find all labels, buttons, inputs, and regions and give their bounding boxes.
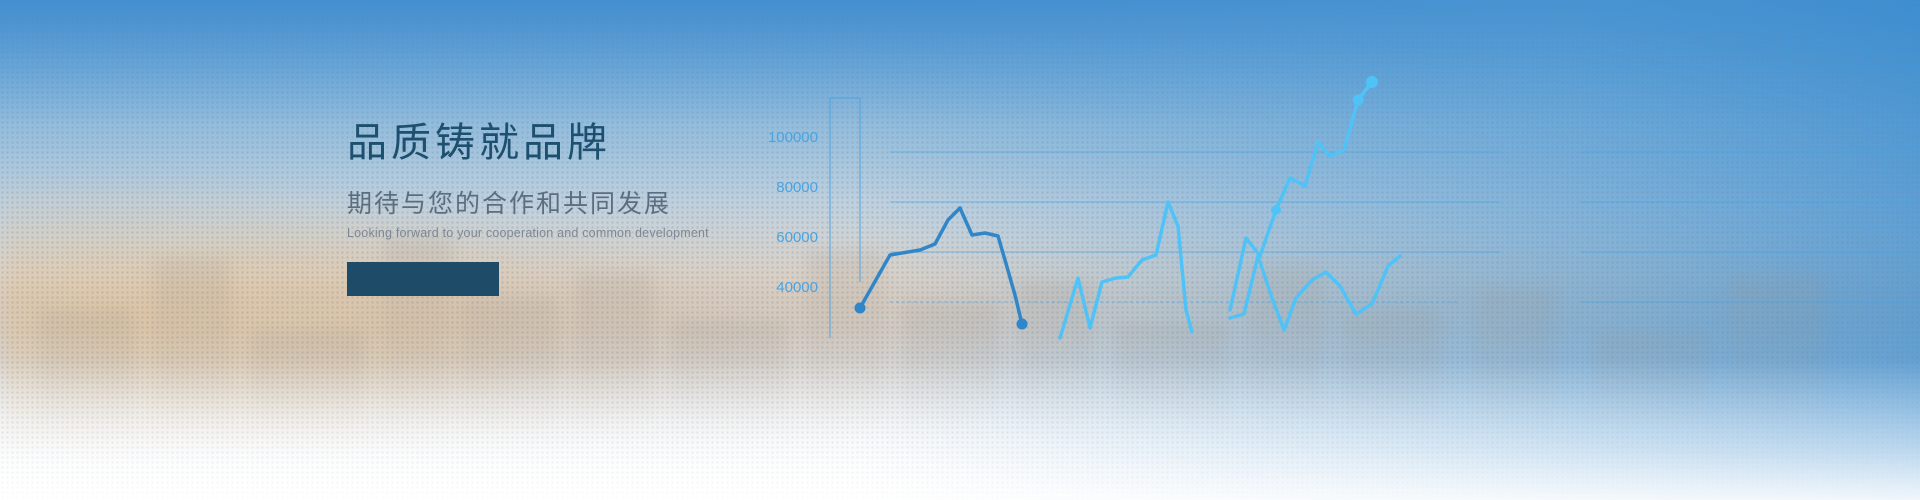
chart-axis-frame — [830, 98, 860, 338]
banner-text-block: 品质铸就品牌 期待与您的合作和共同发展 Looking forward to y… — [347, 118, 777, 296]
banner-cta-button[interactable] — [347, 262, 499, 296]
y-tick-label-60000: 60000 — [776, 229, 818, 246]
y-tick-label-100000: 100000 — [768, 129, 818, 146]
chart-y-axis-labels: 100000 80000 60000 40000 — [768, 129, 818, 296]
chart-marker-point — [1353, 95, 1364, 106]
banner-subtitle: 期待与您的合作和共同发展 — [347, 188, 777, 221]
chart-marker-point — [1366, 76, 1378, 88]
chart-svg: 100000 80000 60000 40000 — [760, 60, 1920, 360]
chart-series-2 — [1060, 202, 1192, 338]
decorative-line-chart: 100000 80000 60000 40000 — [760, 60, 1920, 360]
chart-marker-point — [1271, 205, 1281, 215]
hero-banner: 品质铸就品牌 期待与您的合作和共同发展 Looking forward to y… — [0, 0, 1920, 500]
y-tick-label-80000: 80000 — [776, 179, 818, 196]
chart-marker-point — [855, 303, 866, 314]
banner-title: 品质铸就品牌 — [347, 118, 777, 168]
chart-series-1 — [855, 208, 1028, 330]
chart-series-3 — [1230, 256, 1400, 330]
banner-subtitle-english: Looking forward to your cooperation and … — [347, 226, 777, 240]
chart-gridlines — [890, 152, 1915, 302]
y-tick-label-40000: 40000 — [776, 279, 818, 296]
chart-marker-point — [1017, 319, 1028, 330]
